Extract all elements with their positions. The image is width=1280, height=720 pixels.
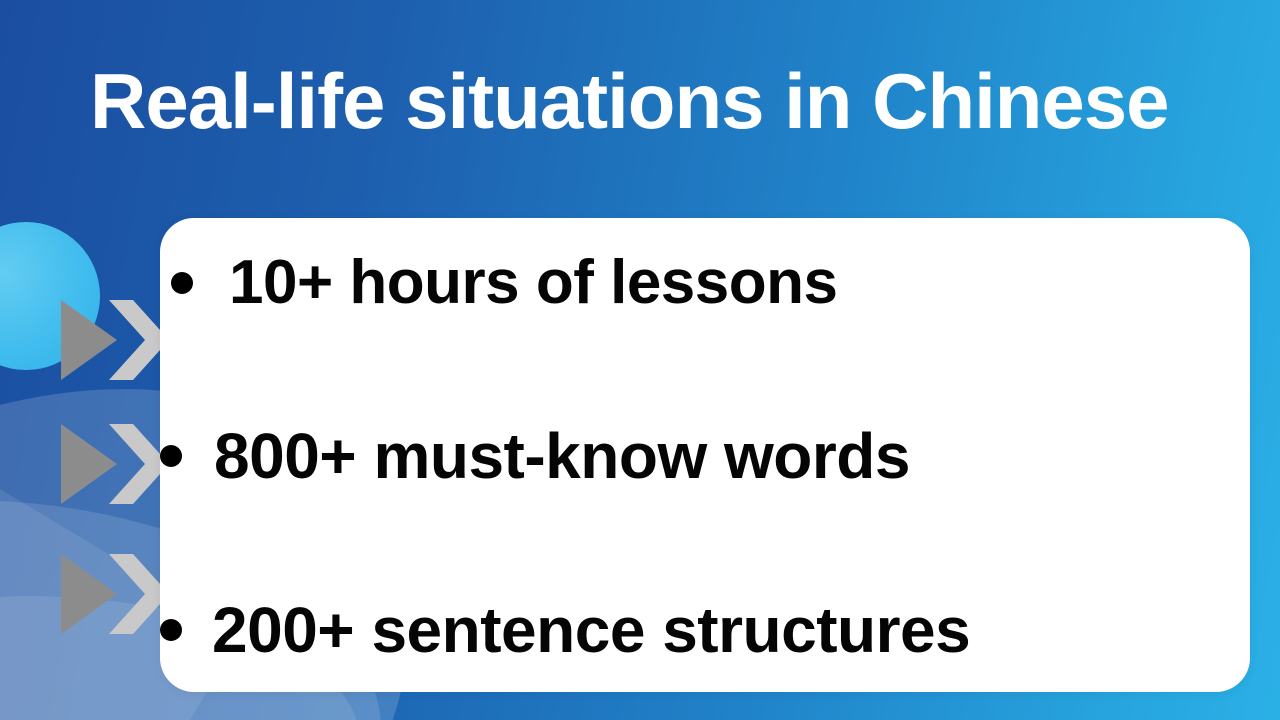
list-item: 10+ hours of lessons: [160, 252, 1244, 314]
list-item-label: 10+ hours of lessons: [229, 252, 838, 314]
bullet-dot-icon: [160, 619, 182, 641]
content-card: 10+ hours of lessons 800+ must-know word…: [160, 218, 1250, 692]
bullet-dot-icon: [171, 272, 193, 294]
list-item-label: 200+ sentence structures: [212, 598, 970, 662]
list-item: 200+ sentence structures: [160, 598, 1244, 662]
bullet-list: 10+ hours of lessons 800+ must-know word…: [160, 218, 1250, 692]
list-item: 800+ must-know words: [160, 424, 1244, 488]
slide-title: Real-life situations in Chinese: [90, 62, 1250, 140]
list-item-label: 800+ must-know words: [214, 424, 910, 488]
double-arrow-icon-2: [59, 422, 171, 506]
bullet-dot-icon: [160, 445, 182, 467]
double-arrow-icon-3: [59, 552, 171, 636]
double-arrow-icon-1: [59, 298, 171, 382]
slide-canvas: Real-life situations in Chinese 10+ hour…: [0, 0, 1280, 720]
